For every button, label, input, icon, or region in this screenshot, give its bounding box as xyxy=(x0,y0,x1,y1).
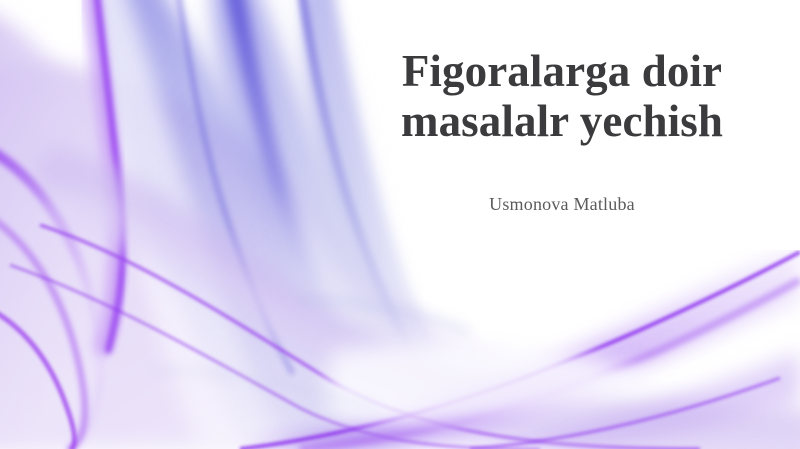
title-text-block: Figoralarga doir masalalr yechish Usmono… xyxy=(352,46,772,215)
title-slide: Figoralarga doir masalalr yechish Usmono… xyxy=(0,0,800,449)
page-subtitle: Usmonova Matluba xyxy=(352,146,772,215)
page-title: Figoralarga doir masalalr yechish xyxy=(352,46,772,146)
page-title-line-2: masalalr yechish xyxy=(352,96,772,146)
page-title-line-1: Figoralarga doir xyxy=(352,46,772,96)
